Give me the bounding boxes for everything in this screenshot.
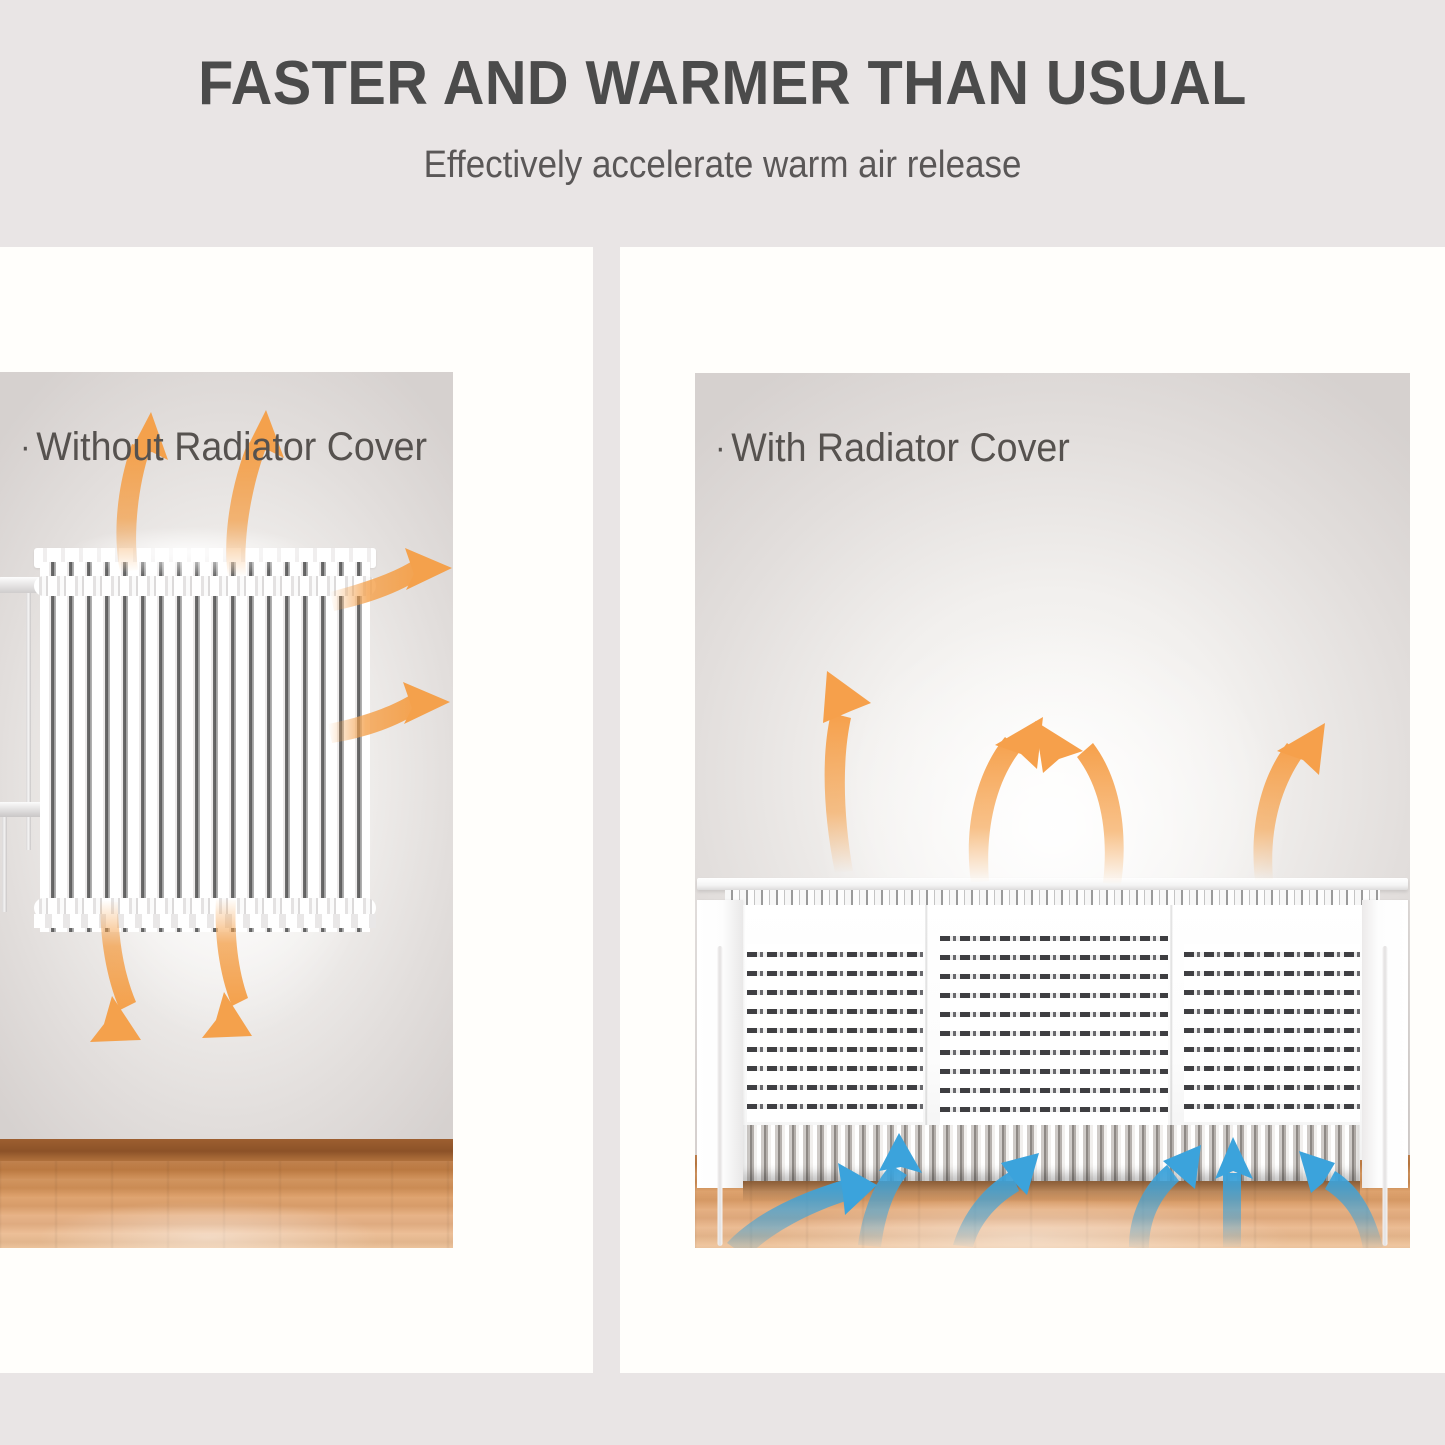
cover-top-ledge [697, 878, 1408, 890]
bullet-dot: · [20, 428, 31, 466]
header-banner: FASTER AND WARMER THAN USUAL Effectively… [0, 0, 1445, 247]
leg-groove [718, 946, 723, 1246]
wood-floor [0, 1161, 453, 1248]
heat-haze [20, 510, 360, 580]
cover-leg-left [697, 900, 743, 1188]
slat-rows [747, 944, 923, 1122]
panel-without-cover: ·Without Radiator Cover [0, 247, 593, 1373]
cover-divider-right [1170, 905, 1173, 1160]
label-text: With Radiator Cover [731, 426, 1070, 470]
leg-groove [1383, 946, 1388, 1246]
radiator-foot [34, 914, 376, 928]
panel-with-cover: ·With Radiator Cover [620, 247, 1445, 1373]
page-title: FASTER AND WARMER THAN USUAL [51, 48, 1395, 120]
photo-with-cover: ·With Radiator Cover [695, 373, 1410, 1248]
cover-divider-left [925, 905, 928, 1160]
grille-panel-left [747, 944, 923, 1122]
page-subtitle: Effectively accelerate warm air release [58, 140, 1387, 190]
bullet-dot: · [715, 429, 726, 467]
floor-sheen [0, 1161, 453, 1248]
label-text: Without Radiator Cover [36, 425, 427, 469]
label-without-cover: ·Without Radiator Cover [20, 424, 427, 470]
label-with-cover: ·With Radiator Cover [715, 425, 1070, 471]
radiator-columns [40, 562, 370, 932]
radiator-fins [743, 1125, 1360, 1181]
slat-rows [940, 930, 1168, 1140]
slat-rows [1184, 944, 1360, 1122]
grille-panel-center [940, 930, 1168, 1140]
radiator-pipe-lower [2, 812, 7, 912]
column-radiator [40, 562, 370, 932]
photo-without-cover: ·Without Radiator Cover [0, 372, 453, 1248]
baseboard [0, 1139, 453, 1161]
radiator-cover [697, 878, 1408, 1160]
cover-leg-right [1362, 900, 1408, 1188]
grille-panel-right [1184, 944, 1360, 1122]
